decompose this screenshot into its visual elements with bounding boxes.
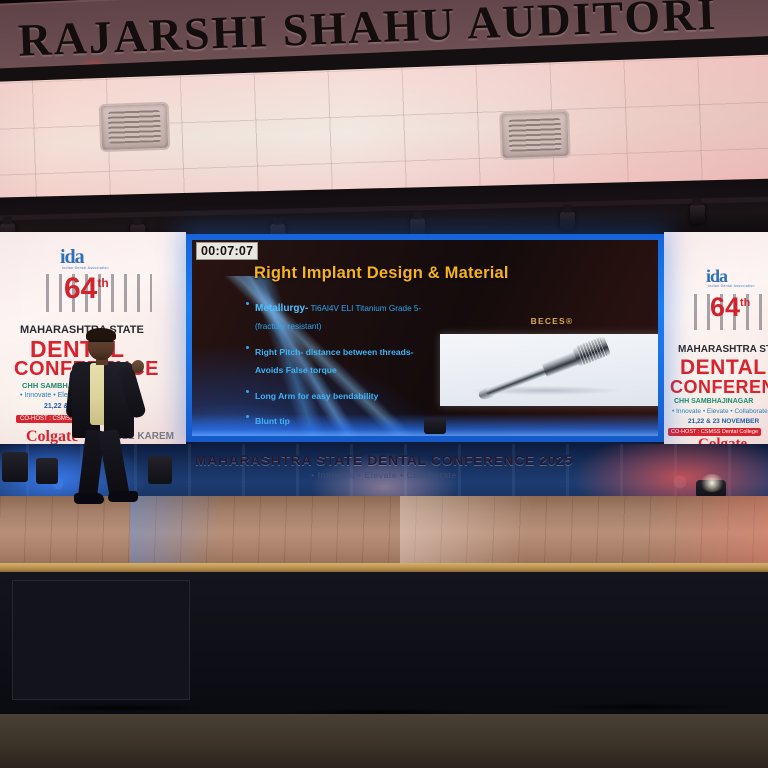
edition-value: 64 bbox=[710, 292, 740, 322]
stage-monitor bbox=[424, 418, 446, 434]
backdrop-banner-right: ida Indian Dental Association 64th MAHAR… bbox=[664, 232, 768, 444]
floor-carpet bbox=[0, 714, 768, 768]
slide-title: Right Implant Design & Material bbox=[254, 264, 509, 283]
edition-number: 64th bbox=[710, 292, 750, 323]
edition-value: 64 bbox=[64, 272, 97, 305]
list-item: Metallurgy- Ti6Al4V ELI Titanium Grade 5… bbox=[246, 298, 436, 335]
list-item: Blunt tip bbox=[246, 411, 436, 429]
edition-suffix: th bbox=[97, 276, 108, 290]
floor-reflection-white bbox=[400, 496, 570, 572]
banner-tagline: • Innovate • Elevate • Collaborate bbox=[672, 408, 768, 415]
speaker-presenter bbox=[52, 330, 162, 512]
apron-panel bbox=[12, 580, 190, 700]
stage-apron bbox=[0, 572, 768, 717]
bullet-lead: Long Arm for easy bendability bbox=[255, 391, 378, 401]
banner-line1: MAHARASHTRA STATE bbox=[678, 344, 768, 355]
speaker-hand bbox=[132, 360, 144, 373]
presentation-slide: 00:07:07 Right Implant Design & Material… bbox=[192, 240, 658, 436]
banner-dates: 21,22 & 23 NOVEMBER bbox=[688, 418, 759, 425]
floor-reflection-red bbox=[588, 496, 768, 572]
ac-vent-icon bbox=[99, 102, 171, 152]
audio-equipment bbox=[2, 452, 28, 482]
banner-line2b: CONFERENCE bbox=[670, 377, 768, 398]
edition-number: 64th bbox=[64, 272, 109, 306]
product-label: BECES® bbox=[492, 316, 612, 326]
ac-vent-icon bbox=[499, 110, 571, 160]
sponsor-colgate: Colgate bbox=[698, 436, 747, 444]
speaker-right-leg bbox=[98, 429, 130, 499]
edition-suffix: th bbox=[740, 297, 750, 309]
presentation-timer: 00:07:07 bbox=[196, 242, 258, 260]
banner-cohost: CO-HOST : CSMSS Dental College bbox=[668, 428, 761, 436]
ida-logo-subtitle: Indian Dental Association bbox=[62, 266, 109, 270]
stage-light-icon bbox=[560, 211, 575, 231]
bullet-lead: Blunt tip bbox=[255, 416, 290, 426]
stage-spotlight bbox=[700, 474, 724, 492]
glasses-icon bbox=[89, 340, 113, 347]
stage-light-icon bbox=[690, 204, 705, 224]
projection-screen[interactable]: 00:07:07 Right Implant Design & Material… bbox=[186, 234, 664, 442]
speaker-right-shoe bbox=[108, 491, 138, 502]
truss-bar bbox=[0, 196, 768, 222]
banner-city: CHH SAMBHAJINAGAR bbox=[674, 398, 753, 405]
bullet-lead: Right Pitch- bbox=[255, 347, 303, 357]
slide-bullet-list: Metallurgy- Ti6Al4V ELI Titanium Grade 5… bbox=[246, 298, 436, 436]
speaker-left-shoe bbox=[74, 493, 104, 504]
list-item: Long Arm for easy bendability bbox=[246, 386, 436, 404]
ida-logo-subtitle: Indian Dental Association bbox=[708, 284, 755, 288]
list-item: Right Pitch- distance between threads- A… bbox=[246, 342, 436, 379]
implant-head bbox=[572, 336, 611, 367]
bullet-lead: Metallurgy- bbox=[255, 303, 308, 314]
auditorium-photo: RAJARSHI SHAHU AUDITORI ida Indian Denta… bbox=[0, 0, 768, 768]
stage-edge-trim bbox=[0, 563, 768, 572]
product-image-panel bbox=[440, 334, 658, 406]
